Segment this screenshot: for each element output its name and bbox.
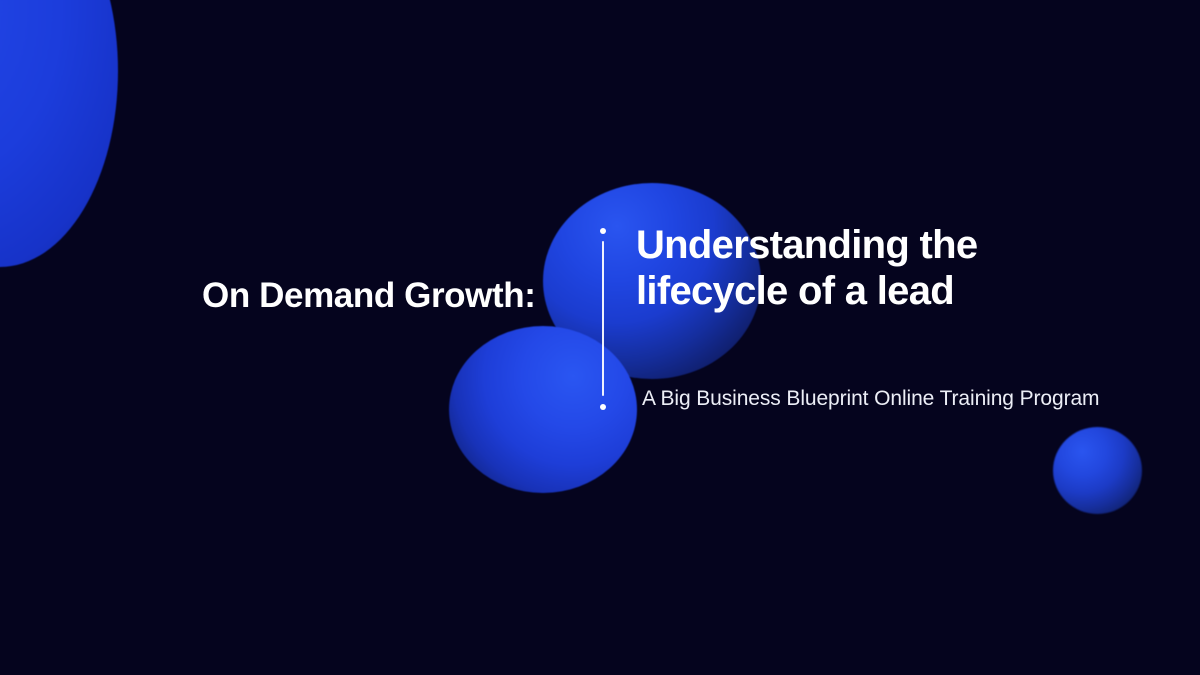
- divider-dot-bottom-icon: [600, 404, 606, 410]
- page-title: Understanding the lifecycle of a lead: [636, 222, 1056, 315]
- sphere-top-left-decoration: [0, 0, 118, 267]
- divider-rule: [602, 241, 604, 396]
- page-title-line-2: lifecycle of a lead: [636, 268, 1056, 314]
- sphere-lower-middle-decoration: [449, 326, 637, 493]
- vertical-divider: [600, 228, 606, 410]
- sphere-bottom-right-decoration: [1053, 427, 1142, 514]
- title-slide: On Demand Growth: Understanding the life…: [0, 0, 1200, 675]
- page-title-line-1: Understanding the: [636, 222, 1056, 268]
- program-label: On Demand Growth:: [202, 277, 535, 316]
- page-subtitle: A Big Business Blueprint Online Training…: [642, 387, 1099, 411]
- divider-dot-top-icon: [600, 228, 606, 234]
